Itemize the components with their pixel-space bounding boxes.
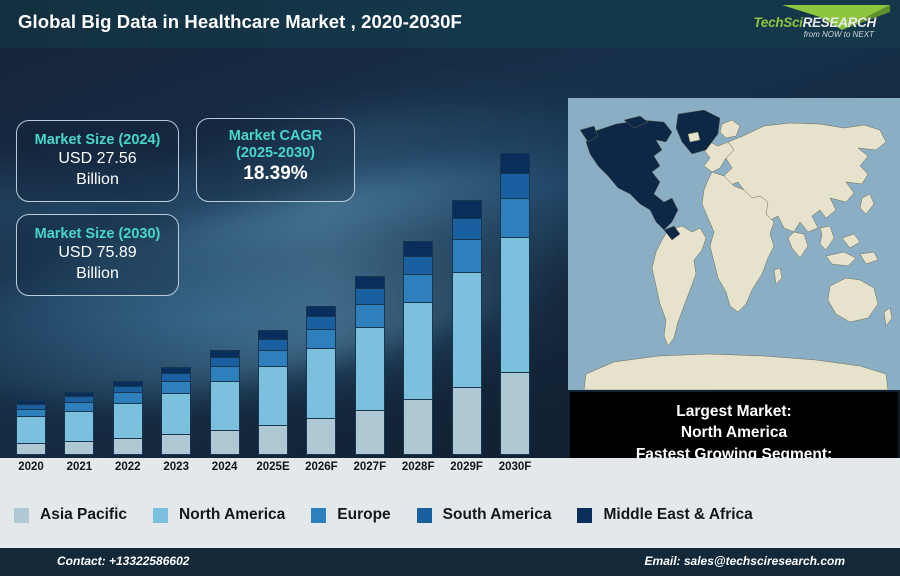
bar-segment-north-america bbox=[210, 381, 240, 430]
legend-label: Europe bbox=[337, 506, 390, 524]
bar-group-2022 bbox=[113, 381, 143, 455]
x-tick-2025E: 2025E bbox=[249, 461, 297, 473]
bar-segment-north-america bbox=[452, 272, 482, 387]
bar-group-2026F bbox=[306, 306, 336, 455]
x-tick-2023: 2023 bbox=[152, 461, 200, 473]
bar-group-2024 bbox=[210, 350, 240, 455]
x-tick-2029F: 2029F bbox=[443, 461, 491, 473]
bar-segment-middle-east-africa bbox=[258, 330, 288, 339]
legend-item-europe[interactable]: Europe bbox=[311, 506, 390, 524]
bar-group-2025E bbox=[258, 330, 288, 455]
legend-item-south-america[interactable]: South America bbox=[417, 506, 552, 524]
key-insights-callout: Largest Market: North America Fastest Gr… bbox=[570, 392, 898, 458]
logo-research-text: RESEARCH bbox=[803, 15, 876, 30]
page-title: Global Big Data in Healthcare Market , 2… bbox=[18, 11, 462, 33]
x-tick-2021: 2021 bbox=[55, 461, 103, 473]
bar-group-2028F bbox=[403, 241, 433, 455]
bar-segment-europe bbox=[355, 304, 385, 327]
brand-logo: TechSciRESEARCH from NOW to NEXT bbox=[719, 2, 894, 46]
legend-swatch-icon bbox=[417, 508, 432, 523]
bar-segment-europe bbox=[64, 402, 94, 411]
x-tick-2022: 2022 bbox=[104, 461, 152, 473]
legend-swatch-icon bbox=[14, 508, 29, 523]
bar-segment-south-america bbox=[210, 357, 240, 366]
legend-label: South America bbox=[443, 506, 552, 524]
bar-segment-asia-pacific bbox=[452, 387, 482, 455]
bar-group-2023 bbox=[161, 367, 191, 455]
bar-segment-europe bbox=[210, 366, 240, 380]
legend-item-north-america[interactable]: North America bbox=[153, 506, 285, 524]
bar-segment-europe bbox=[258, 350, 288, 367]
bar-segment-asia-pacific bbox=[210, 430, 240, 455]
bar-segment-north-america bbox=[355, 327, 385, 410]
stacked-bar-chart bbox=[0, 48, 568, 458]
x-tick-2028F: 2028F bbox=[394, 461, 442, 473]
chart-legend: Asia PacificNorth AmericaEuropeSouth Ame… bbox=[0, 498, 900, 532]
bar-group-2020 bbox=[16, 400, 46, 455]
bar-segment-europe bbox=[161, 381, 191, 393]
bar-segment-middle-east-africa bbox=[306, 306, 336, 316]
bar-segment-north-america bbox=[161, 393, 191, 435]
bar-segment-south-america bbox=[403, 256, 433, 274]
x-tick-2027F: 2027F bbox=[346, 461, 394, 473]
bar-segment-north-america bbox=[500, 237, 530, 373]
legend-label: Asia Pacific bbox=[40, 506, 127, 524]
x-axis-labels: 202020212022202320242025E2026F2027F2028F… bbox=[0, 458, 568, 480]
logo-tagline: from NOW to NEXT bbox=[804, 30, 874, 39]
bar-segment-north-america bbox=[306, 348, 336, 418]
header-bar: Global Big Data in Healthcare Market , 2… bbox=[0, 0, 900, 48]
bar-segment-asia-pacific bbox=[113, 438, 143, 455]
logo-wordmark: TechSciRESEARCH bbox=[753, 15, 876, 30]
world-map-svg bbox=[568, 98, 900, 390]
legend-label: North America bbox=[179, 506, 285, 524]
bar-segment-south-america bbox=[500, 173, 530, 198]
bar-segment-middle-east-africa bbox=[355, 276, 385, 288]
footer-email: Email: sales@techsciresearch.com bbox=[645, 554, 845, 568]
bar-segment-europe bbox=[452, 239, 482, 272]
bar-group-2027F bbox=[355, 276, 385, 455]
bar-group-2029F bbox=[452, 200, 482, 455]
bar-segment-south-america bbox=[306, 316, 336, 329]
bar-segment-asia-pacific bbox=[64, 441, 94, 455]
callout-line-2: North America bbox=[570, 422, 898, 443]
legend-item-asia-pacific[interactable]: Asia Pacific bbox=[14, 506, 127, 524]
bar-segment-asia-pacific bbox=[306, 418, 336, 455]
bar-segment-middle-east-africa bbox=[403, 241, 433, 256]
bar-group-2030F bbox=[500, 153, 530, 455]
footer-bar: Contact: +13322586602 Email: sales@techs… bbox=[0, 548, 900, 576]
bar-segment-south-america bbox=[161, 373, 191, 381]
x-tick-2030F: 2030F bbox=[491, 461, 539, 473]
legend-swatch-icon bbox=[153, 508, 168, 523]
bar-segment-north-america bbox=[403, 302, 433, 400]
bar-segment-asia-pacific bbox=[355, 410, 385, 455]
callout-line-1: Largest Market: bbox=[570, 401, 898, 422]
x-tick-2026F: 2026F bbox=[297, 461, 345, 473]
bar-segment-north-america bbox=[16, 416, 46, 442]
bar-segment-europe bbox=[113, 392, 143, 402]
bar-group-2021 bbox=[64, 392, 94, 455]
legend-label: Middle East & Africa bbox=[603, 506, 752, 524]
bar-segment-north-america bbox=[258, 366, 288, 424]
legend-swatch-icon bbox=[311, 508, 326, 523]
bar-segment-asia-pacific bbox=[161, 434, 191, 455]
chart-panel: Market Size (2024) USD 27.56 Billion Mar… bbox=[0, 48, 900, 458]
bar-segment-north-america bbox=[64, 411, 94, 441]
bar-segment-europe bbox=[500, 198, 530, 237]
bar-segment-south-america bbox=[355, 288, 385, 303]
bar-segment-south-america bbox=[258, 339, 288, 350]
legend-item-middle-east-africa[interactable]: Middle East & Africa bbox=[577, 506, 752, 524]
bar-segment-asia-pacific bbox=[403, 399, 433, 455]
logo-tech-text: TechSci bbox=[753, 15, 802, 30]
callout-line-3: Fastest Growing Segment: bbox=[570, 444, 898, 458]
legend-swatch-icon bbox=[577, 508, 592, 523]
bar-segment-asia-pacific bbox=[16, 443, 46, 455]
bar-segment-asia-pacific bbox=[500, 372, 530, 455]
bar-segment-europe bbox=[403, 274, 433, 302]
x-tick-2024: 2024 bbox=[201, 461, 249, 473]
x-tick-2020: 2020 bbox=[7, 461, 55, 473]
bar-segment-middle-east-africa bbox=[500, 153, 530, 173]
bar-segment-north-america bbox=[113, 403, 143, 438]
world-map bbox=[568, 98, 900, 390]
bar-segment-middle-east-africa bbox=[452, 200, 482, 217]
bar-segment-europe bbox=[306, 329, 336, 349]
bar-segment-middle-east-africa bbox=[210, 350, 240, 358]
bar-segment-asia-pacific bbox=[258, 425, 288, 455]
bar-segment-europe bbox=[16, 409, 46, 417]
footer-contact: Contact: +13322586602 bbox=[57, 554, 189, 568]
bar-segment-south-america bbox=[452, 218, 482, 239]
